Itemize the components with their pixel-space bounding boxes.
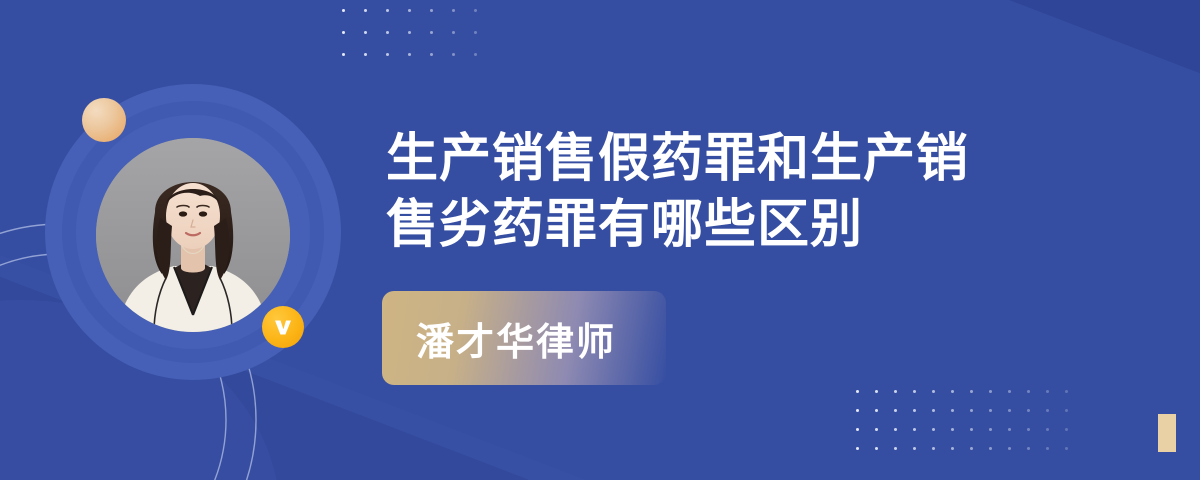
grid-dot: [474, 9, 477, 12]
grid-dot: [386, 31, 389, 34]
grid-dot: [970, 390, 973, 393]
grid-dot: [1046, 447, 1049, 450]
grid-dot: [364, 31, 367, 34]
grid-dot: [951, 447, 954, 450]
grid-dot: [894, 428, 897, 431]
grid-dot: [970, 447, 973, 450]
grid-dot: [408, 9, 411, 12]
grid-dot: [1008, 447, 1011, 450]
grid-dot: [1046, 428, 1049, 431]
grid-dot: [913, 409, 916, 412]
grid-dot: [894, 390, 897, 393]
grid-dot: [452, 31, 455, 34]
grid-dot: [894, 409, 897, 412]
grid-dot: [342, 53, 345, 56]
grid-dot: [875, 409, 878, 412]
grid-dot: [989, 390, 992, 393]
grid-dot: [1065, 447, 1068, 450]
grid-dot: [913, 447, 916, 450]
grid-dot: [913, 390, 916, 393]
grid-dot: [1065, 428, 1068, 431]
author-badge: 潘才华律师: [382, 291, 666, 385]
grid-dot: [1027, 447, 1030, 450]
grid-dot: [856, 447, 859, 450]
grid-dot: [1065, 409, 1068, 412]
grid-dot: [386, 53, 389, 56]
grid-dot: [1027, 390, 1030, 393]
title-line-2: 售劣药罪有哪些区别: [386, 196, 863, 254]
grid-dot: [932, 447, 935, 450]
grid-dot: [1065, 390, 1068, 393]
grid-dot: [364, 53, 367, 56]
grid-dot: [430, 31, 433, 34]
grid-dot: [932, 390, 935, 393]
grid-dot: [1008, 428, 1011, 431]
grid-dot: [989, 428, 992, 431]
grid-dot: [894, 447, 897, 450]
grid-dot: [856, 390, 859, 393]
grid-dot: [364, 9, 367, 12]
grid-dot: [932, 409, 935, 412]
grid-dot: [875, 390, 878, 393]
verified-badge: [262, 306, 304, 348]
grid-dot: [856, 428, 859, 431]
grid-dot: [970, 409, 973, 412]
grid-dot: [875, 428, 878, 431]
grid-dot: [342, 31, 345, 34]
grid-dot: [1027, 428, 1030, 431]
grid-dot: [989, 447, 992, 450]
grid-dot: [1027, 409, 1030, 412]
title-line-1: 生产销售假药罪和生产销: [386, 130, 969, 188]
headline-block: 生产销售假药罪和生产销 售劣药罪有哪些区别: [386, 126, 1176, 258]
grid-dot: [342, 9, 345, 12]
grid-dot: [951, 409, 954, 412]
grid-dot: [474, 31, 477, 34]
decorative-gradient-circle: [82, 98, 126, 142]
grid-dot: [430, 53, 433, 56]
grid-dot: [1008, 409, 1011, 412]
grid-dot: [856, 409, 859, 412]
lawyer-article-banner: 生产销售假药罪和生产销 售劣药罪有哪些区别 潘才华律师: [0, 0, 1200, 480]
grid-dot: [989, 409, 992, 412]
grid-dot: [951, 390, 954, 393]
grid-dot: [932, 428, 935, 431]
grid-dot: [430, 9, 433, 12]
grid-dot: [474, 53, 477, 56]
grid-dot: [1008, 390, 1011, 393]
grid-dot: [1046, 409, 1049, 412]
grid-dot: [1046, 390, 1049, 393]
author-name: 潘才华律师: [382, 311, 616, 366]
page-title: 生产销售假药罪和生产销 售劣药罪有哪些区别: [386, 126, 1176, 258]
grid-dot: [408, 31, 411, 34]
avatar: [96, 138, 290, 332]
grid-dot: [913, 428, 916, 431]
grid-dot: [452, 53, 455, 56]
grid-dot: [951, 428, 954, 431]
grid-dot: [970, 428, 973, 431]
grid-dot: [452, 9, 455, 12]
grid-dot: [875, 447, 878, 450]
accent-bar-right: [1158, 414, 1176, 452]
grid-dot: [408, 53, 411, 56]
grid-dot: [386, 9, 389, 12]
